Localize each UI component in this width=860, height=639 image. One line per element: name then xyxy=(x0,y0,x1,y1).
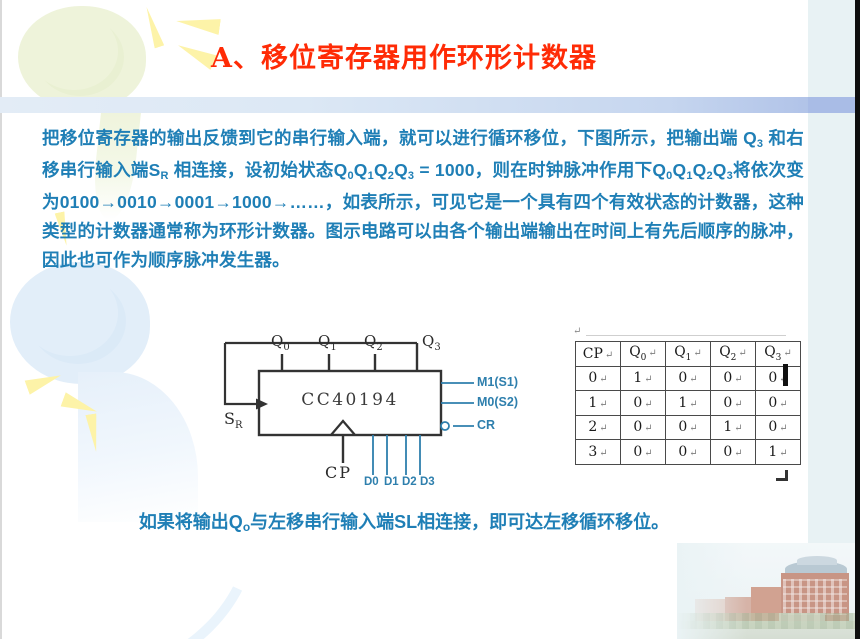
table-cell: 0↵ xyxy=(666,440,711,465)
table-paragraph-mark: ↵ xyxy=(573,326,581,337)
table-cell: 2↵ xyxy=(576,415,621,440)
campus-building-photo xyxy=(677,543,855,639)
truth-table: CP↵Q0↵Q1↵Q2↵Q3↵0↵1↵0↵0↵0↵1↵0↵1↵0↵0↵2↵0↵0… xyxy=(575,341,801,465)
table-cell: 3↵ xyxy=(576,440,621,465)
chip-label: CC40194 xyxy=(259,390,441,410)
slide-canvas: A、移位寄存器用作环形计数器 把移位寄存器的输出反馈到它的串行输入端，就可以进行… xyxy=(0,0,860,639)
table-cell: 0↵ xyxy=(621,415,666,440)
title-underline-bar xyxy=(0,97,856,113)
shift-register-circuit-diagram: CC40194 Q0 Q1 Q2 Q3 SR CP D0 D1 D2 D3 M1… xyxy=(212,330,542,498)
output-label-q1: Q1 xyxy=(318,332,337,353)
output-label-q2: Q2 xyxy=(364,332,383,353)
blue-balloon-highlight xyxy=(30,278,126,364)
table-resize-handle-vertical[interactable] xyxy=(785,470,788,481)
sunburst-ray-icon xyxy=(175,13,221,35)
table-cell: 1↵ xyxy=(621,366,666,391)
table-cell: 0↵ xyxy=(711,391,756,416)
bottom-note: 如果将输出Qo与左移串行输入端SL相连接，即可达左移循环移位。 xyxy=(0,508,808,534)
table-row: 0↵1↵0↵0↵0↵ xyxy=(576,366,801,391)
table-cell: 0↵ xyxy=(576,366,621,391)
body-paragraph: 把移位寄存器的输出反馈到它的串行输入端，就可以进行循环移位，下图所示，把输出端 … xyxy=(42,124,804,275)
control-pin-label-m1: M1(S1) xyxy=(477,375,518,389)
table-cell: 0↵ xyxy=(711,366,756,391)
photo-left-fade xyxy=(677,543,747,639)
table-row: 3↵0↵0↵0↵1↵ xyxy=(576,440,801,465)
table-header-cell: Q3↵ xyxy=(756,342,801,367)
table-cell: 1↵ xyxy=(711,415,756,440)
data-input-label-d0: D0 xyxy=(364,476,379,488)
table-cell: 0↵ xyxy=(756,366,801,391)
table-header-cell: Q1↵ xyxy=(666,342,711,367)
circuit-svg xyxy=(212,330,542,498)
table-cell: 0↵ xyxy=(756,415,801,440)
output-label-q3: Q3 xyxy=(422,332,441,353)
truth-table-body: CP↵Q0↵Q1↵Q2↵Q3↵0↵1↵0↵0↵0↵1↵0↵1↵0↵0↵2↵0↵0… xyxy=(576,342,801,465)
data-input-label-d2: D2 xyxy=(402,476,417,488)
table-header-cell: Q2↵ xyxy=(711,342,756,367)
table-cell: 1↵ xyxy=(756,440,801,465)
slide-title: A、移位寄存器用作环形计数器 xyxy=(0,36,808,75)
cr-inversion-bubble-icon xyxy=(441,422,449,430)
table-ruler-line xyxy=(586,335,786,336)
table-cell: 0↵ xyxy=(666,415,711,440)
truth-table-wrapper: CP↵Q0↵Q1↵Q2↵Q3↵0↵1↵0↵0↵0↵1↵0↵1↵0↵0↵2↵0↵0… xyxy=(575,341,801,465)
table-header-row: CP↵Q0↵Q1↵Q2↵Q3↵ xyxy=(576,342,801,367)
right-dark-edge xyxy=(855,0,860,639)
table-row: 1↵0↵1↵0↵0↵ xyxy=(576,391,801,416)
table-cell: 0↵ xyxy=(756,391,801,416)
table-cursor-caret xyxy=(783,364,788,386)
table-cell: 0↵ xyxy=(666,366,711,391)
table-header-cell: Q0↵ xyxy=(621,342,666,367)
feedback-left-wire xyxy=(225,343,256,404)
serial-input-label-sr: SR xyxy=(224,409,243,431)
table-cell: 0↵ xyxy=(621,440,666,465)
table-cell: 0↵ xyxy=(621,391,666,416)
clock-label-cp: CP xyxy=(325,463,352,482)
table-cell: 0↵ xyxy=(711,440,756,465)
data-input-label-d3: D3 xyxy=(420,476,435,488)
table-header-cell: CP↵ xyxy=(576,342,621,367)
data-input-label-d1: D1 xyxy=(384,476,399,488)
output-label-q0: Q0 xyxy=(271,332,290,353)
title-underline-bar-right xyxy=(808,97,856,113)
control-pin-label-m0: M0(S2) xyxy=(477,395,518,409)
table-cell: 1↵ xyxy=(576,391,621,416)
control-pin-label-cr: CR xyxy=(477,418,495,432)
table-cell: 1↵ xyxy=(666,391,711,416)
table-row: 2↵0↵0↵1↵0↵ xyxy=(576,415,801,440)
